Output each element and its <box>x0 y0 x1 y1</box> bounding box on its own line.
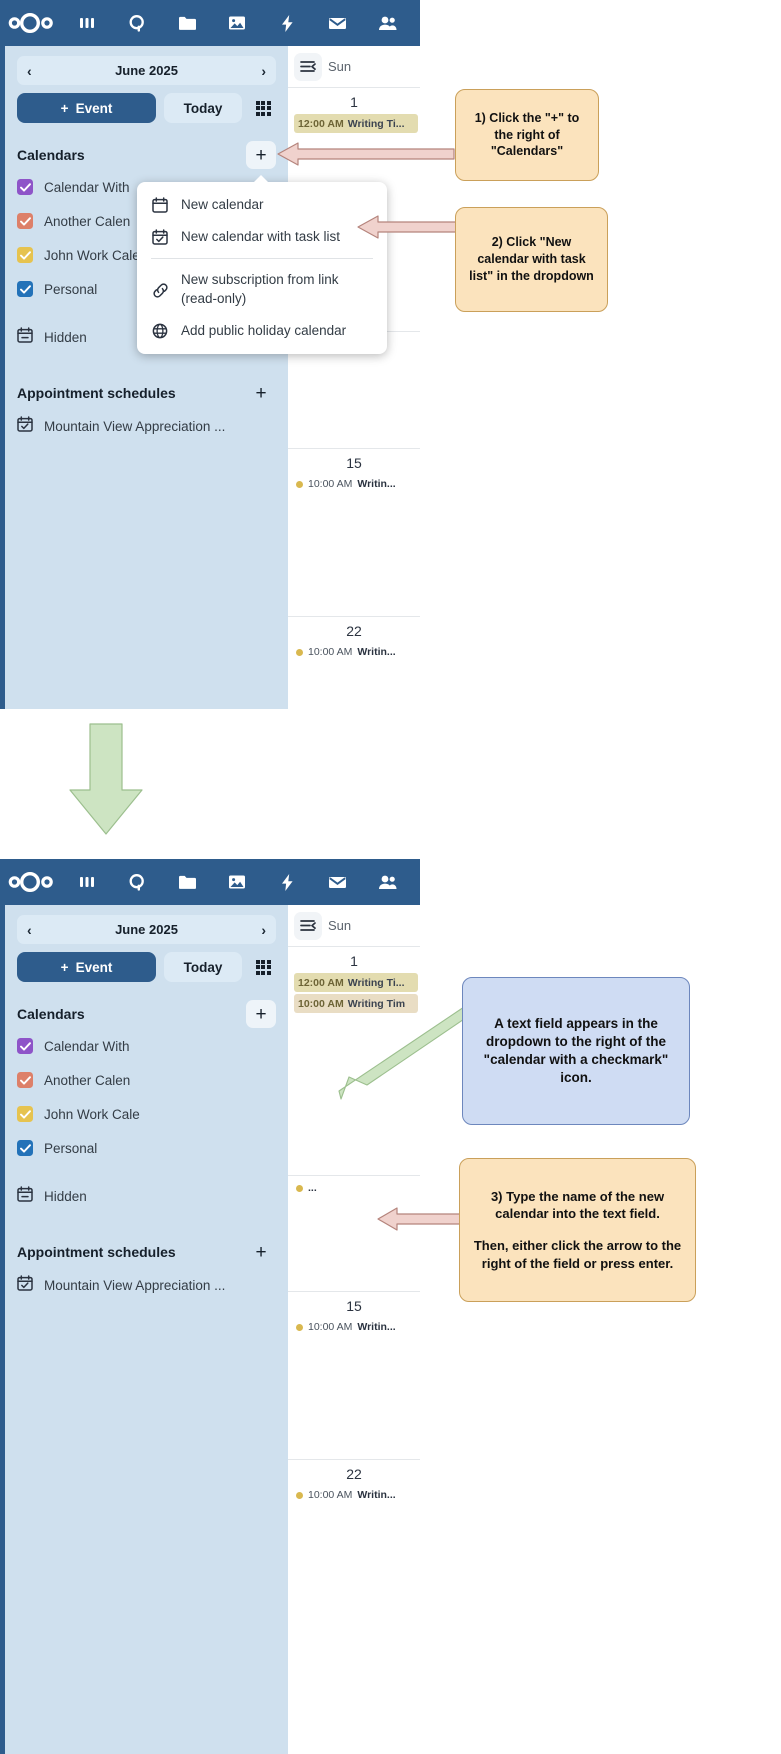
checkbox-checked-icon[interactable] <box>17 213 33 229</box>
day-header-sun: Sun <box>328 918 351 933</box>
contacts-icon[interactable] <box>370 6 404 40</box>
callout-text: 2) Click "New calendar with task list" i… <box>468 234 595 285</box>
menu-item-new-subscription[interactable]: New subscription from link (read-only) <box>137 264 387 314</box>
today-button[interactable]: Today <box>164 93 242 123</box>
calendar-minus-icon <box>17 1186 33 1207</box>
search-icon[interactable] <box>120 865 154 899</box>
pointer-arrow-step-1 <box>276 139 456 169</box>
calendar-list-item[interactable]: Calendar With <box>5 1030 288 1062</box>
calendar-list-item[interactable]: Another Calen <box>5 1064 288 1096</box>
event-dot-icon <box>296 1324 303 1331</box>
menu-item-label: New calendar <box>181 196 264 214</box>
menu-item-label: New subscription from link (read-only) <box>181 271 361 307</box>
calendar-name: John Work Cale <box>44 248 140 263</box>
add-calendar-button[interactable]: + <box>246 141 276 169</box>
action-buttons: + Event Today <box>17 93 276 123</box>
calendar-event[interactable]: 10:00 AM Writin... <box>288 1486 420 1504</box>
day-number: 22 <box>288 1460 420 1486</box>
calendar-list-item[interactable]: Personal <box>5 1132 288 1164</box>
nextcloud-top-bar <box>0 859 420 905</box>
calendar-event[interactable]: 12:00 AM Writing Ti... <box>294 114 418 133</box>
new-event-label: Event <box>76 101 113 116</box>
today-button[interactable]: Today <box>164 952 242 982</box>
add-appointment-button[interactable]: + <box>246 1238 276 1266</box>
menu-item-new-calendar-with-task-list[interactable]: New calendar with task list <box>137 221 387 253</box>
callout-note-3: A text field appears in the dropdown to … <box>462 977 690 1125</box>
event-time: 10:00 AM <box>308 1489 352 1501</box>
callout-text-line-1: 3) Type the name of the new calendar int… <box>472 1188 683 1223</box>
calendar-name: Another Calen <box>44 214 130 229</box>
hidden-calendars-item[interactable]: Hidden <box>5 1180 288 1212</box>
add-appointment-button[interactable]: + <box>246 379 276 407</box>
hidden-label: Hidden <box>44 1189 87 1204</box>
calendar-list-item[interactable]: John Work Cale <box>5 1098 288 1130</box>
new-event-button[interactable]: + Event <box>17 952 156 982</box>
appointments-heading: Appointment schedules <box>17 1244 176 1260</box>
dashboard-icon[interactable] <box>70 6 104 40</box>
event-dot-icon <box>296 1185 303 1192</box>
nextcloud-logo-icon[interactable] <box>0 13 62 33</box>
calendar-name: Personal <box>44 1141 97 1156</box>
menu-item-label: Add public holiday calendar <box>181 322 346 340</box>
menu-item-new-calendar[interactable]: New calendar <box>137 189 387 221</box>
calendar-event[interactable]: 10:00 AM Writin... <box>288 1318 420 1336</box>
appointments-section-header: Appointment schedules + <box>17 1238 276 1266</box>
current-month-label: June 2025 <box>115 63 178 78</box>
screenshot-step-3: ‹ June 2025 › + Event Today Calendars + <box>0 859 420 1754</box>
collapse-sidebar-icon[interactable] <box>294 912 322 940</box>
calendar-check-icon <box>17 1275 33 1296</box>
calendar-minus-icon <box>17 327 33 348</box>
checkbox-checked-icon[interactable] <box>17 1038 33 1054</box>
contacts-icon[interactable] <box>370 865 404 899</box>
event-time: 10:00 AM <box>308 646 352 658</box>
checkbox-checked-icon[interactable] <box>17 1106 33 1122</box>
search-icon[interactable] <box>120 6 154 40</box>
calendar-name: Another Calen <box>44 1073 130 1088</box>
mail-icon[interactable] <box>320 6 354 40</box>
grid-view-icon[interactable] <box>250 954 276 980</box>
calendar-event[interactable]: 12:00 AM Writing Ti... <box>294 973 418 992</box>
mail-icon[interactable] <box>320 865 354 899</box>
event-title: Writin... <box>357 478 395 490</box>
event-dot-icon <box>296 481 303 488</box>
calendar-toolbar: Sun <box>288 905 420 947</box>
event-title: Writing Ti... <box>348 118 405 130</box>
dashboard-icon[interactable] <box>70 865 104 899</box>
callout-step-2: 2) Click "New calendar with task list" i… <box>455 207 608 312</box>
pointer-arrow-note-3 <box>333 1003 483 1108</box>
action-buttons: + Event Today <box>17 952 276 982</box>
appointments-section-header: Appointment schedules + <box>17 379 276 407</box>
new-event-label: Event <box>76 960 113 975</box>
tutorial-page: ‹ June 2025 › + Event Today Calendars + <box>0 0 781 1754</box>
photos-icon[interactable] <box>220 865 254 899</box>
hidden-label: Hidden <box>44 330 87 345</box>
calendar-name: Calendar With <box>44 1039 130 1054</box>
appointment-list-item[interactable]: Mountain View Appreciation ... <box>5 1270 288 1300</box>
event-dot-icon <box>296 1492 303 1499</box>
nextcloud-top-bar <box>0 0 420 46</box>
calendar-sidebar: ‹ June 2025 › + Event Today Calendars + <box>0 46 288 709</box>
photos-icon[interactable] <box>220 6 254 40</box>
calendar-event[interactable]: 10:00 AM Writin... <box>288 475 420 493</box>
day-header-sun: Sun <box>328 59 351 74</box>
calendar-check-icon <box>151 228 169 245</box>
checkbox-checked-icon[interactable] <box>17 179 33 195</box>
globe-icon <box>151 322 169 339</box>
calendar-toolbar: Sun <box>288 46 420 88</box>
files-icon[interactable] <box>170 865 204 899</box>
checkbox-checked-icon[interactable] <box>17 247 33 263</box>
calendar-sidebar: ‹ June 2025 › + Event Today Calendars + <box>0 905 288 1754</box>
pointer-arrow-step-2 <box>356 212 460 242</box>
calendar-icon <box>151 196 169 213</box>
day-number: 1 <box>288 88 420 114</box>
nextcloud-logo-icon[interactable] <box>0 872 62 892</box>
calendars-section-header: Calendars + <box>17 141 276 169</box>
callout-text: 1) Click the "+" to the right of "Calend… <box>468 110 586 161</box>
event-time: 10:00 AM <box>308 1321 352 1333</box>
calendar-check-icon <box>17 416 33 437</box>
screenshot-step-1: ‹ June 2025 › + Event Today Calendars + <box>0 0 420 709</box>
callout-text-line-2: Then, either click the arrow to the righ… <box>472 1237 683 1272</box>
link-icon <box>151 271 169 299</box>
day-number: 1 <box>288 947 420 973</box>
event-dot-icon <box>296 649 303 656</box>
event-title: Writin... <box>357 1489 395 1501</box>
month-navigation: ‹ June 2025 › <box>17 56 276 85</box>
collapse-sidebar-icon[interactable] <box>294 53 322 81</box>
new-event-button[interactable]: + Event <box>17 93 156 123</box>
previous-month-button[interactable]: ‹ <box>27 64 32 78</box>
callout-text: A text field appears in the dropdown to … <box>475 1015 677 1088</box>
files-icon[interactable] <box>170 6 204 40</box>
new-calendar-dropdown: New calendar New calendar with task list… <box>137 182 387 354</box>
event-time: 12:00 AM <box>298 977 344 989</box>
appointment-list-item[interactable]: Mountain View Appreciation ... <box>5 411 288 441</box>
menu-divider <box>151 258 373 259</box>
checkbox-checked-icon[interactable] <box>17 1140 33 1156</box>
activity-icon[interactable] <box>270 6 304 40</box>
app-icons <box>62 6 420 40</box>
next-month-button[interactable]: › <box>261 64 266 78</box>
day-number: 15 <box>288 1292 420 1318</box>
calendar-event[interactable]: 10:00 AM Writin... <box>288 643 420 661</box>
pointer-arrow-step-3 <box>376 1205 464 1233</box>
day-number: 22 <box>288 617 420 643</box>
calendars-heading: Calendars <box>17 1006 85 1022</box>
plus-icon: + <box>61 101 69 116</box>
event-title: ... <box>308 1182 317 1194</box>
calendars-section-header: Calendars + <box>17 1000 276 1028</box>
next-month-button[interactable]: › <box>261 923 266 937</box>
menu-item-add-public-holiday-calendar[interactable]: Add public holiday calendar <box>137 315 387 347</box>
app-icons <box>62 865 420 899</box>
event-time: 10:00 AM <box>308 478 352 490</box>
add-calendar-button[interactable]: + <box>246 1000 276 1028</box>
event-title: Writin... <box>357 646 395 658</box>
callout-step-1: 1) Click the "+" to the right of "Calend… <box>455 89 599 181</box>
current-month-label: June 2025 <box>115 922 178 937</box>
calendar-name: John Work Cale <box>44 1107 140 1122</box>
day-number: 15 <box>288 449 420 475</box>
event-title: Writin... <box>357 1321 395 1333</box>
flow-down-arrow-icon <box>66 722 146 837</box>
appointment-name: Mountain View Appreciation ... <box>44 1278 225 1293</box>
calendar-name: Personal <box>44 282 97 297</box>
calendars-heading: Calendars <box>17 147 85 163</box>
callout-step-3: 3) Type the name of the new calendar int… <box>459 1158 696 1302</box>
calendar-event[interactable]: ... <box>288 1176 420 1197</box>
menu-item-label: New calendar with task list <box>181 228 340 246</box>
event-title: Writing Ti... <box>348 977 405 989</box>
activity-icon[interactable] <box>270 865 304 899</box>
checkbox-checked-icon[interactable] <box>17 1072 33 1088</box>
appointment-name: Mountain View Appreciation ... <box>44 419 225 434</box>
calendar-name: Calendar With <box>44 180 130 195</box>
grid-view-icon[interactable] <box>250 95 276 121</box>
checkbox-checked-icon[interactable] <box>17 281 33 297</box>
month-navigation: ‹ June 2025 › <box>17 915 276 944</box>
plus-icon: + <box>61 960 69 975</box>
appointments-heading: Appointment schedules <box>17 385 176 401</box>
previous-month-button[interactable]: ‹ <box>27 923 32 937</box>
event-time: 12:00 AM <box>298 118 344 130</box>
